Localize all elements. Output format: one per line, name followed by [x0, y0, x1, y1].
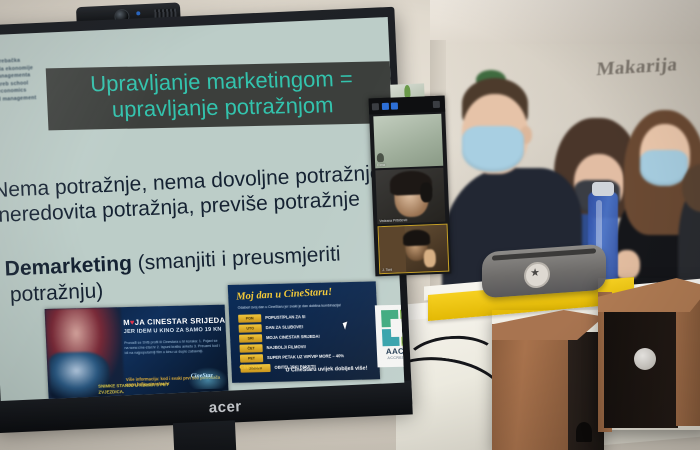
desktop-speaker-right: [598, 278, 700, 430]
cinestar-week-poster: Moj dan u CineStaru! Odaberi svoj dan u …: [228, 281, 380, 383]
presentation-screen[interactable]: Zagrebačka škola ekonomije i managementa…: [0, 17, 404, 401]
participant-name: Vedrana Pribičević: [379, 218, 407, 223]
monitor-stand-neck: [173, 420, 237, 450]
mute-icon[interactable]: [372, 103, 379, 110]
day-text: POPUST/PLAN ZA 5!: [265, 313, 306, 322]
desktop-speaker-left: [492, 310, 604, 450]
poster-right-title: Moj dan u CineStaru!: [236, 285, 371, 303]
bottle-cap: [592, 182, 614, 196]
plant-decoration: [404, 85, 410, 97]
classroom-lecture-photo: Makarija ★: [0, 0, 700, 450]
participant-name: Elma: [377, 163, 385, 167]
slide-title: Upravljanje marketingom = upravljanje po…: [58, 65, 387, 130]
poster-left-tagline: SNIMKE STANJU U KINIMA S PET ZVJEZDICA.: [98, 381, 191, 394]
poster-right-subtitle: Odaberi svoj dan u CineStaru jer svaki j…: [238, 303, 370, 310]
day-badge: PON: [238, 314, 261, 323]
participant-name: J. Toni: [382, 268, 392, 272]
bullet-text: potražnju): [9, 279, 103, 306]
slide-bullet-2: Demarketing (smanjiti i preusmjeriti: [4, 241, 341, 281]
bullet-keyword: Demarketing: [4, 252, 132, 281]
participant-hand: [423, 249, 436, 267]
video-call-panel[interactable]: Elma Vedrana Pribičević J. Toni: [369, 96, 452, 277]
poster-left-subtitle: JER IDEM U KINO ZA SAMO 19 KN: [124, 327, 224, 335]
day-badge: SRI: [239, 334, 262, 343]
day-badge: UTO: [239, 324, 262, 333]
video-tile-participant-3[interactable]: J. Toni: [378, 224, 450, 275]
day-text: SUPER PETAK UZ VIP/VIP MORE – 40%: [267, 352, 344, 362]
more-icon[interactable]: [433, 101, 440, 108]
wall-lettering: Makarija: [595, 53, 700, 94]
day-text: NAJBOLJI FILMOVI!: [266, 343, 306, 352]
bullet-text: (smanjiti i preusmjeriti: [131, 242, 341, 274]
aacsb-mark-icon: [381, 309, 404, 346]
acer-monitor: HD 1080 acer Zagrebačka škola ekonomije …: [0, 7, 413, 446]
poster-left-body: Pronađi se SVB profil ili Cinestara u tr…: [124, 339, 221, 357]
slide-bullet-2-cont: potražnju): [9, 278, 103, 307]
avatar: [377, 153, 384, 162]
poster-right-brand: CineStar: [239, 364, 284, 380]
face-mask: [462, 126, 524, 172]
bass-port: [576, 422, 592, 442]
speaker-cabinet: [492, 324, 568, 450]
video-call-toolbar[interactable]: [369, 96, 446, 115]
day-badge: PET: [240, 354, 263, 363]
poster-left-brand: CineStar: [191, 373, 213, 380]
speaker-top: [598, 278, 700, 312]
share-icon[interactable]: [391, 102, 398, 109]
day-text: MOJA CINESTAR SRIJEDA!: [266, 333, 320, 342]
participant-background: [379, 226, 407, 273]
speaker-driver: [634, 348, 656, 370]
participant-hair: [403, 229, 431, 246]
video-tile-participant-1[interactable]: Elma: [373, 114, 443, 169]
camera-icon[interactable]: [382, 103, 389, 110]
video-tile-participant-2[interactable]: Vedrana Pribičević: [375, 168, 445, 225]
aacsb-status: ACCREDITED: [377, 355, 404, 360]
cinestar-wednesday-poster: M♥JA CINESTAR SRIJEDA JER IDEM U KINO ZA…: [45, 305, 229, 399]
day-badge: ČET: [239, 344, 262, 353]
star-glyph-icon: ★: [530, 268, 540, 279]
headphones-icon: [420, 182, 433, 202]
acer-brand-logo: acer: [190, 397, 261, 416]
day-text: DAN ZA SLUBOVE!: [266, 323, 304, 332]
poster-left-title: M♥JA CINESTAR SRIJEDA: [123, 316, 223, 327]
poster-right-footer: U CineStaru uvijek dobiješ više!: [286, 365, 378, 373]
aacsb-accreditation-logo: AACSB ACCREDITED: [375, 304, 405, 367]
